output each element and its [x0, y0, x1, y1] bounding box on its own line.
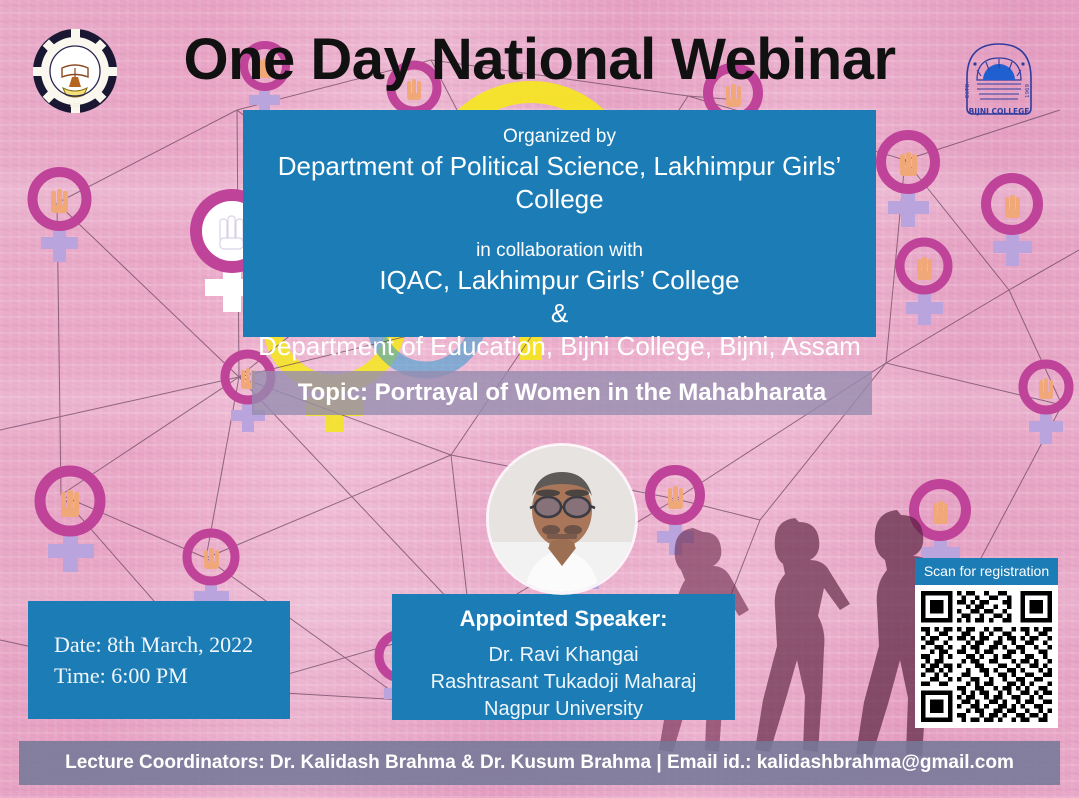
speaker-affiliation-line-1: Rashtrasant Tukadoji Maharaj	[392, 669, 735, 696]
speaker-box: Appointed Speaker: Dr. Ravi Khangai Rash…	[392, 594, 735, 720]
organized-by-label: Organized by	[243, 124, 876, 150]
organizer-name: Department of Political Science, Lakhimp…	[243, 150, 876, 216]
event-time: Time: 6:00 PM	[54, 660, 290, 691]
qr-code-icon[interactable]	[915, 585, 1058, 728]
webinar-poster: LGC BIJNI COLLEGE ESTD. 1969 One Day Nat…	[0, 0, 1079, 798]
speaker-photo	[489, 446, 635, 592]
estd-year: 1969	[1025, 84, 1031, 98]
svg-text:LGC: LGC	[70, 103, 81, 109]
estd-label: ESTD.	[965, 81, 971, 98]
bijni-college-emblem: BIJNI COLLEGE ESTD. 1969	[947, 26, 1051, 118]
lakhimpur-girls-college-emblem: LGC	[32, 28, 118, 114]
ampersand-separator: &	[243, 297, 876, 330]
event-date: Date: 8th March, 2022	[54, 629, 290, 660]
collaboration-label: in collaboration with	[243, 238, 876, 264]
schedule-box: Date: 8th March, 2022 Time: 6:00 PM	[28, 601, 290, 719]
bijni-college-label: BIJNI COLLEGE	[969, 107, 1030, 116]
collaborator-two: Department of Education, Bijni College, …	[243, 330, 876, 363]
footer-bar: Lecture Coordinators: Dr. Kalidash Brahm…	[19, 741, 1060, 785]
organizer-box: Organized by Department of Political Sci…	[243, 110, 876, 337]
speaker-name: Dr. Ravi Khangai	[392, 642, 735, 669]
topic-bar: Topic: Portrayal of Women in the Mahabha…	[252, 371, 872, 415]
page-title: One Day National Webinar	[0, 26, 1079, 93]
speaker-heading: Appointed Speaker:	[392, 604, 735, 634]
registration-qr-block[interactable]: Scan for registration	[915, 558, 1058, 736]
collaborator-one: IQAC, Lakhimpur Girls’ College	[243, 264, 876, 297]
gender-symbol-icon	[872, 128, 946, 238]
gender-symbol-icon	[892, 236, 958, 336]
coordinators-text: Lecture Coordinators: Dr. Kalidash Brahm…	[65, 752, 1014, 774]
gender-symbol-icon	[24, 165, 96, 273]
gender-symbol-icon	[978, 172, 1048, 276]
gender-symbol-icon	[1016, 358, 1078, 454]
gender-symbol-icon	[30, 463, 112, 585]
topic-text: Topic: Portrayal of Women in the Mahabha…	[298, 379, 827, 407]
qr-label: Scan for registration	[915, 558, 1058, 585]
speaker-affiliation-line-2: Nagpur University	[392, 696, 735, 723]
